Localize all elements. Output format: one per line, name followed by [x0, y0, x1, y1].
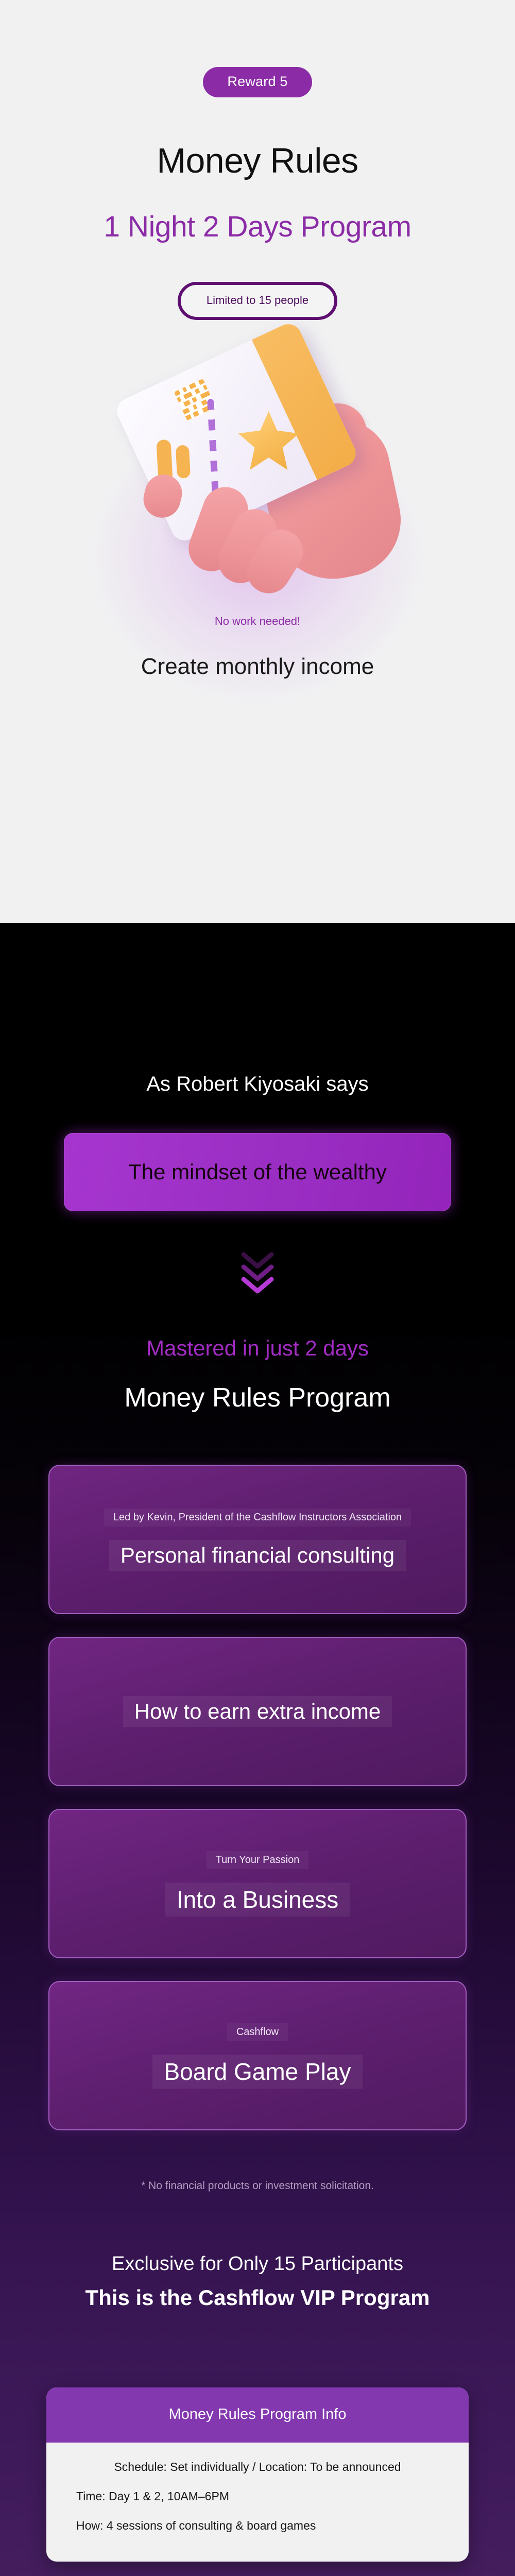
quote-intro: As Robert Kiyosaki says: [146, 1073, 368, 1096]
hand-holding-ticket-icon: [113, 336, 402, 609]
hero-kicker: No work needed!: [215, 615, 300, 628]
reward-badge[interactable]: Reward 5: [203, 67, 312, 97]
mastered-kicker: Mastered in just 2 days: [146, 1336, 369, 1361]
quote-highlight-box: The mindset of the wealthy: [64, 1133, 451, 1211]
info-line: How: 4 sessions of consulting & board ga…: [76, 2519, 439, 2533]
card-title: Personal financial consulting: [109, 1540, 406, 1571]
exclusive-text: Exclusive for Only 15 Participants: [112, 2253, 403, 2275]
card-title: Board Game Play: [152, 2055, 362, 2089]
capacity-badge: Limited to 15 people: [178, 282, 337, 320]
program-card[interactable]: How to earn extra income: [48, 1637, 467, 1786]
card-title: Into a Business: [165, 1883, 350, 1917]
program-info-card: Money Rules Program Info Schedule: Set i…: [46, 2387, 469, 2562]
card-title: How to earn extra income: [123, 1696, 392, 1727]
chevron-down-icon: [241, 1276, 274, 1295]
program-info-body: Schedule: Set individually / Location: T…: [46, 2443, 469, 2562]
program-card[interactable]: Led by Kevin, President of the Cashflow …: [48, 1465, 467, 1614]
info-line: Schedule: Set individually / Location: T…: [76, 2460, 439, 2474]
program-card[interactable]: Cashflow Board Game Play: [48, 1981, 467, 2130]
card-kicker: Led by Kevin, President of the Cashflow …: [104, 1509, 411, 1527]
vip-headline: This is the Cashflow VIP Program: [85, 2285, 430, 2310]
card-kicker: Turn Your Passion: [207, 1851, 309, 1869]
disclaimer-text: * No financial products or investment so…: [141, 2180, 374, 2192]
ticket-bar: [176, 445, 191, 478]
dark-section: As Robert Kiyosaki says The mindset of t…: [0, 923, 515, 2576]
program-info-header: Money Rules Program Info: [46, 2387, 469, 2443]
program-card-list: Led by Kevin, President of the Cashflow …: [48, 1465, 467, 2130]
hero-section: Reward 5 Money Rules 1 Night 2 Days Prog…: [0, 0, 515, 923]
info-line: Time: Day 1 & 2, 10AM–6PM: [76, 2489, 439, 2503]
page-title: Money Rules: [157, 141, 358, 181]
hero-cta-text: Create monthly income: [141, 654, 374, 680]
landing-page: Reward 5 Money Rules 1 Night 2 Days Prog…: [0, 0, 515, 2576]
program-card[interactable]: Turn Your Passion Into a Business: [48, 1809, 467, 1958]
program-title: Money Rules Program: [124, 1382, 390, 1413]
chevron-group: [241, 1251, 274, 1295]
page-subtitle: 1 Night 2 Days Program: [104, 210, 411, 244]
card-kicker: Cashflow: [227, 2023, 288, 2041]
